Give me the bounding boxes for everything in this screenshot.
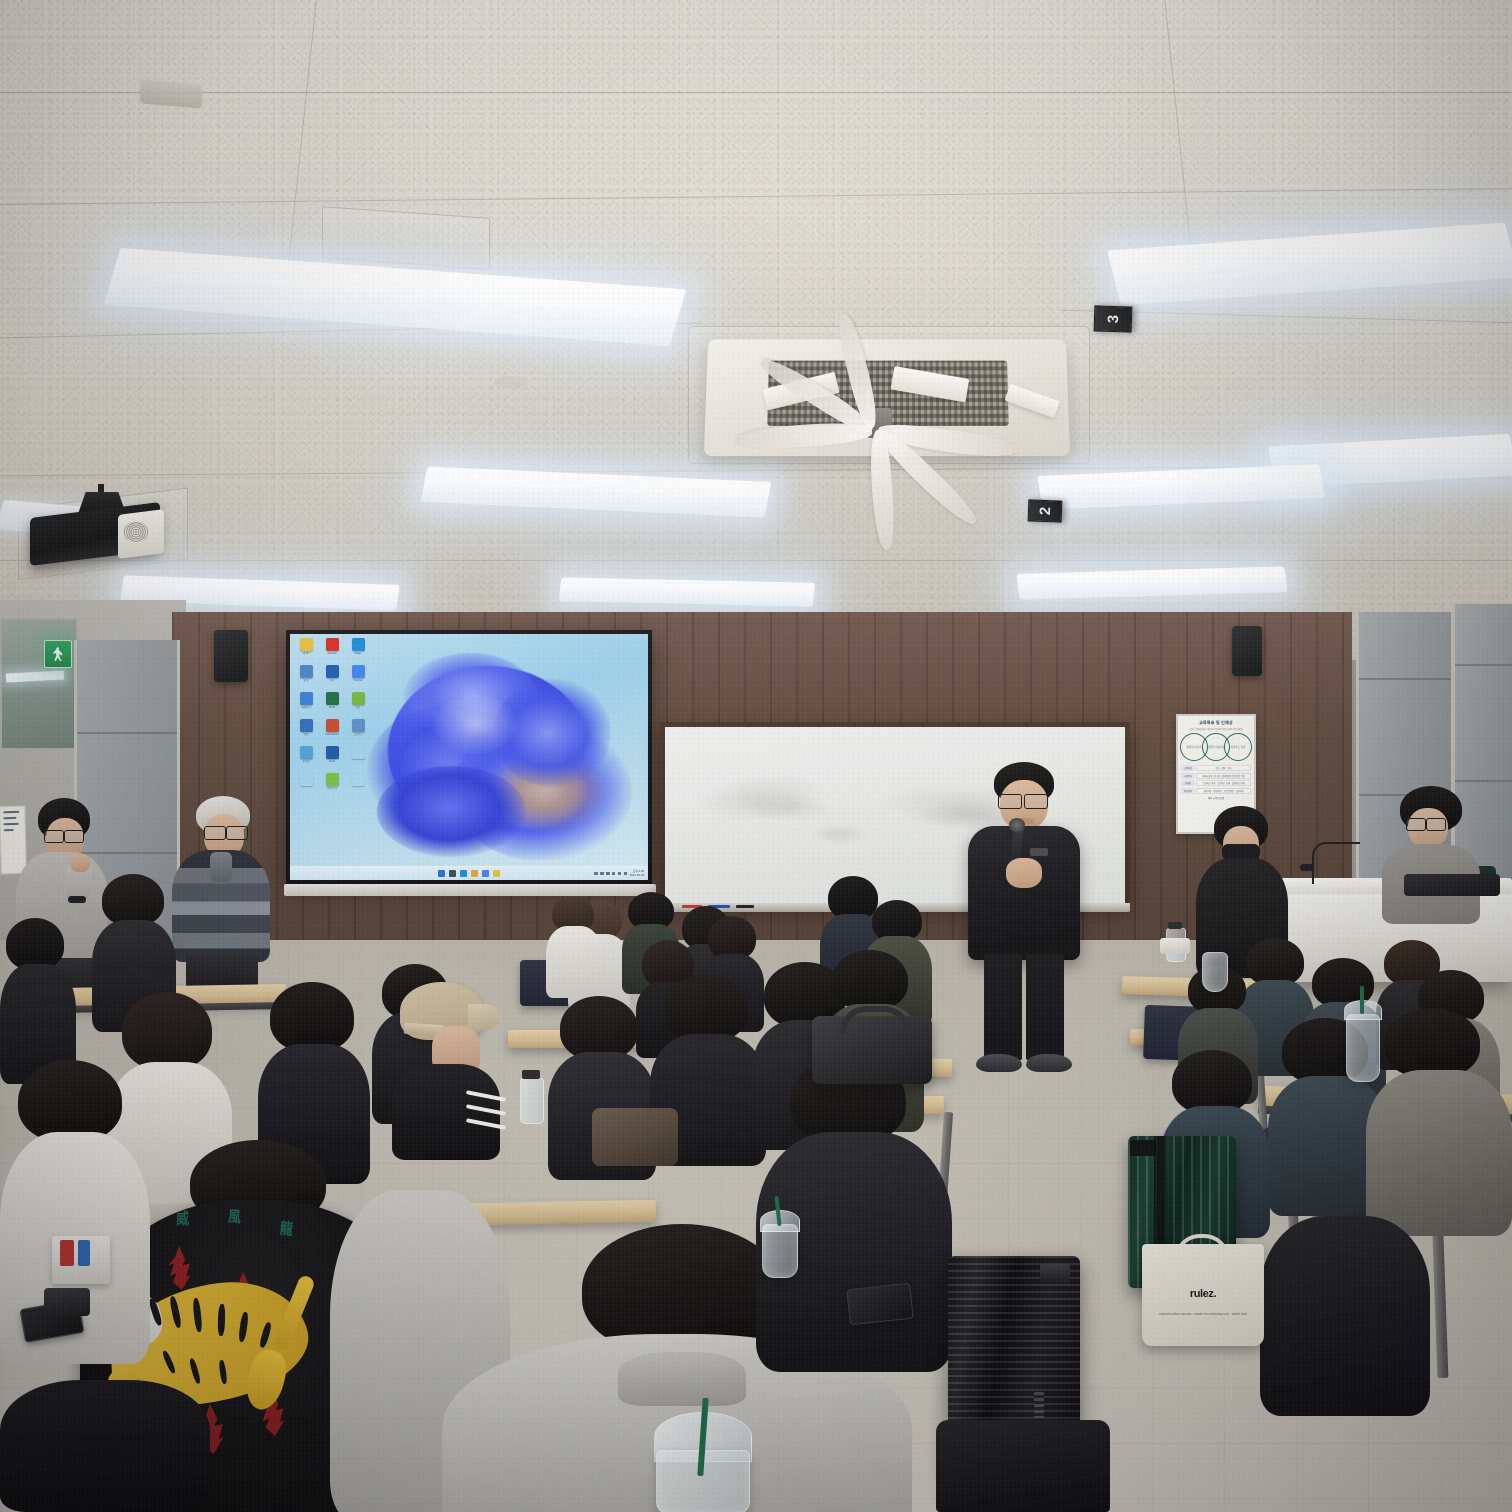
volume-icon[interactable]: [624, 872, 627, 875]
desktop-icon-word-label: Word: [320, 760, 345, 766]
poster-circle-3: 자기주도 학습: [1224, 733, 1252, 761]
desktop-icon-alzip-glyph: [352, 692, 365, 705]
presenter-with-microphone: [968, 762, 1080, 1074]
desktop-icon-word[interactable]: Word: [319, 746, 345, 772]
poster-row: 교육목표미래사회를 선도하는 창의융합형 전문인력 양성: [1181, 773, 1251, 779]
desktop-icon-folder[interactable]: 내 PC: [293, 638, 319, 664]
desktop-icon-recycle-bin-glyph: [300, 746, 313, 759]
chrome-icon[interactable]: [482, 870, 489, 877]
desktop-icon-settings[interactable]: 설정: [293, 719, 319, 745]
folder-icon[interactable]: [493, 870, 500, 877]
taskbar-system-tray[interactable]: 오후 2:38 2024-02-19: [594, 870, 644, 876]
taskbar-clock[interactable]: 오후 2:38 2024-02-19: [630, 870, 644, 876]
desktop-icon-printer-label: 프린터: [346, 733, 371, 739]
brown-bag: [592, 1108, 678, 1166]
jacket-logo: [1030, 848, 1048, 856]
hand-at-chin: [70, 854, 90, 872]
ceiling-zone-sign-2: 2: [1028, 499, 1063, 522]
edge-icon[interactable]: [460, 870, 467, 877]
ac-vane: [1005, 384, 1060, 418]
poster-row-value: 미래사회를 선도하는 창의융합형 전문인력 양성: [1196, 773, 1251, 779]
zone-sign-label: 3: [1104, 315, 1121, 324]
ceiling-sprinkler: [520, 568, 546, 578]
desktop-icon-blank-3[interactable]: [345, 773, 371, 799]
wristwatch: [68, 896, 86, 903]
desktop-icon-documents-glyph: [300, 665, 313, 678]
desk-item: [1160, 938, 1190, 954]
poster-row-value: 진리 · 정의 · 봉사: [1196, 765, 1251, 771]
tote-logo-text: rulez.: [1190, 1288, 1216, 1300]
iced-drink-cup[interactable]: [762, 1224, 798, 1278]
audience-member: [0, 1380, 210, 1512]
explorer-icon[interactable]: [471, 870, 478, 877]
suitcase-handle[interactable]: [1130, 1140, 1156, 1156]
poster-row-value: 창의역량 · 융합역량 · 글로벌역량 · 실천역량: [1196, 788, 1251, 794]
presenter-shoe: [1026, 1054, 1072, 1072]
presenter-shoe: [976, 1054, 1022, 1072]
poster-row-label: 핵심역량: [1181, 788, 1195, 794]
desktop-icon-blank[interactable]: [345, 746, 371, 772]
standing-man-cardigan: [172, 796, 270, 976]
exit-sign: [44, 640, 72, 668]
desktop-icon-printer-glyph: [352, 719, 365, 732]
bottle-cap: [522, 1070, 540, 1079]
iced-drink-cup[interactable]: [1346, 1014, 1380, 1082]
canvas-tote-bag[interactable]: rulez. natural cotton canvas · made for …: [1142, 1244, 1264, 1346]
left-glass-partition: [0, 618, 78, 750]
microphone-capsule: [1300, 864, 1314, 871]
drinking-straw: [1360, 986, 1364, 1014]
desktop-icon-edge-glyph: [352, 638, 365, 651]
desktop-icon-hangul-glyph: [326, 665, 339, 678]
presenter-glasses: [1024, 794, 1048, 809]
desktop-icon-chrome-label: Chrome: [346, 679, 371, 685]
desktop-icon-edge-label: Edge: [346, 652, 371, 658]
suitcase-handle[interactable]: [1040, 1264, 1070, 1284]
desktop-icon-blank-3-glyph: [352, 773, 365, 786]
desktop-icon-acrobat[interactable]: Acrobat: [319, 638, 345, 664]
water-bottle[interactable]: [520, 1078, 544, 1124]
desktop-icon-hangul-label: 한글: [320, 679, 345, 685]
windows-taskbar[interactable]: 오후 2:38 2024-02-19: [290, 866, 648, 880]
audience-member: [0, 918, 76, 1078]
desktop-icon-acrobat-glyph: [326, 638, 339, 651]
wallpaper-bloom: [362, 649, 627, 865]
desktop-icon-folder-label: 내 PC: [294, 652, 319, 658]
desktop-icon-documents-label: 문서: [294, 679, 319, 685]
search-icon[interactable]: [449, 870, 456, 877]
desktop-icon-shortcut-glyph: [326, 773, 339, 786]
projector-vent: [124, 521, 148, 543]
cap-brim: [468, 1004, 500, 1030]
zone-sign-label: 2: [1036, 507, 1053, 516]
bottle-cap: [1168, 922, 1182, 929]
poster-row-label: 교육목표: [1181, 773, 1195, 779]
ceiling-seam: [0, 92, 1512, 93]
start-icon[interactable]: [438, 870, 445, 877]
desktop-icon-powerpoint-label: PowerPoint: [320, 733, 345, 739]
hoodie-hood: [618, 1352, 746, 1406]
poster-row-label: 인재상: [1181, 780, 1195, 786]
desktop-icon-folder-glyph: [300, 638, 313, 651]
poster-title: 교육목표 및 인재상: [1178, 720, 1254, 726]
clock-date: 2024-02-19: [630, 874, 644, 877]
desktop-icon-alzip[interactable]: 알집: [345, 692, 371, 718]
desktop-icon-excel[interactable]: Excel: [319, 692, 345, 718]
desktop-icon-mycomputer-glyph: [300, 692, 313, 705]
desktop-icon-chrome[interactable]: Chrome: [345, 665, 371, 691]
smartphone-on-desk[interactable]: [846, 1283, 913, 1325]
desktop-icon-acrobat-label: Acrobat: [320, 652, 345, 658]
marker-pen: [60, 1240, 74, 1266]
desktop-icon-excel-label: Excel: [320, 706, 345, 712]
desktop-icon-powerpoint[interactable]: PowerPoint: [319, 719, 345, 745]
desktop-icon-shortcut-label: 바로가기: [320, 787, 345, 793]
desktop-icon-recycle-bin-label: 휴지통: [294, 760, 319, 766]
desktop-icon-recycle-bin[interactable]: 휴지통: [293, 746, 319, 772]
audience-member: [546, 896, 602, 992]
suitcase-lock[interactable]: [1034, 1392, 1044, 1418]
ceiling-zone-sign-3: 3: [1094, 305, 1133, 332]
presenter-pants: [984, 954, 1022, 1060]
ceiling-smoke-detector: [494, 376, 528, 388]
desktop-icon-blank-2[interactable]: [293, 773, 319, 799]
desktop-icon-grid[interactable]: 내 PCAcrobatEdge문서한글Chrome내컴퓨터Excel알집설정Po…: [293, 638, 371, 799]
tray-icon[interactable]: [606, 872, 609, 875]
desktop-icon-word-glyph: [326, 746, 339, 759]
tote-fineprint: natural cotton canvas · made for everyda…: [1156, 1312, 1250, 1317]
presenter-jacket: [968, 826, 1080, 960]
gooseneck-microphone: [1312, 842, 1360, 884]
taskbar-center-icons[interactable]: [438, 870, 500, 877]
desktop-icon-blank-2-label: [294, 787, 319, 793]
desktop-icon-edge[interactable]: Edge: [345, 638, 371, 664]
desktop-icon-shortcut[interactable]: 바로가기: [319, 773, 345, 799]
desktop-icon-mycomputer-label: 내컴퓨터: [294, 706, 319, 712]
desktop-icon-settings-glyph: [300, 719, 313, 732]
screen-roller-bar: [284, 884, 656, 896]
audience-member: [1366, 1008, 1512, 1228]
ceiling-seam: [0, 560, 1512, 561]
poster-row-label: 교육이념: [1181, 765, 1195, 771]
desktop-icon-alzip-label: 알집: [346, 706, 371, 712]
presenter-hands: [1006, 858, 1042, 888]
exit-runner-icon: [53, 647, 63, 661]
marker-black[interactable]: [736, 905, 754, 908]
desktop-icon-blank-label: [346, 760, 371, 766]
iced-drink-cup[interactable]: [1202, 952, 1228, 992]
poster-row: 핵심역량창의역량 · 융합역량 · 글로벌역량 · 실천역량: [1181, 788, 1251, 794]
bag-handle: [840, 1006, 910, 1034]
desktop-icon-documents[interactable]: 문서: [293, 665, 319, 691]
poster-row: 교육이념진리 · 정의 · 봉사: [1181, 765, 1251, 771]
turtleneck-collar: [210, 852, 232, 882]
projection-screen[interactable]: 내 PCAcrobatEdge문서한글Chrome내컴퓨터Excel알집설정Po…: [286, 630, 652, 884]
presenter-pants: [1026, 954, 1064, 1060]
laptop-on-lectern: [1404, 874, 1500, 896]
microphone-head: [1009, 818, 1025, 832]
tray-icon[interactable]: [594, 872, 597, 875]
desktop-icon-blank-glyph: [352, 746, 365, 759]
backpack: [936, 1420, 1110, 1512]
poster-subtitle: 대학 교육이념에 기반한 핵심역량 중심 인재 양성 체계: [1182, 728, 1250, 731]
desktop-icon-blank-2-glyph: [300, 773, 313, 786]
desktop-icon-settings-label: 설정: [294, 733, 319, 739]
presenter-glasses: [998, 794, 1022, 809]
audience-member-with-cap: [392, 982, 500, 1152]
tray-icon[interactable]: [612, 872, 615, 875]
marker-pen: [78, 1240, 90, 1266]
network-icon[interactable]: [618, 872, 621, 875]
wall-speaker-left: [214, 630, 248, 682]
tray-icon[interactable]: [600, 872, 603, 875]
poster-footer: 대학 교육혁신원: [1178, 796, 1254, 800]
lecture-hall-photo: 3 2: [0, 0, 1512, 1512]
desktop-icon-mycomputer[interactable]: 내컴퓨터: [293, 692, 319, 718]
poster-row: 인재상도전하는 인재 · 소통하는 인재 · 실천하는 인재: [1181, 780, 1251, 786]
audience-member: [1260, 1216, 1430, 1416]
desktop-icon-powerpoint-glyph: [326, 719, 339, 732]
pencil-case: [44, 1288, 90, 1316]
desktop-icon-excel-glyph: [326, 692, 339, 705]
projected-desktop[interactable]: 내 PCAcrobatEdge문서한글Chrome내컴퓨터Excel알집설정Po…: [290, 634, 648, 880]
desktop-icon-blank-3-label: [346, 787, 371, 793]
wall-speaker-right: [1232, 626, 1262, 676]
desktop-icon-chrome-glyph: [352, 665, 365, 678]
desktop-icon-hangul[interactable]: 한글: [319, 665, 345, 691]
poster-row-value: 도전하는 인재 · 소통하는 인재 · 실천하는 인재: [1196, 780, 1251, 786]
desktop-icon-printer[interactable]: 프린터: [345, 719, 371, 745]
